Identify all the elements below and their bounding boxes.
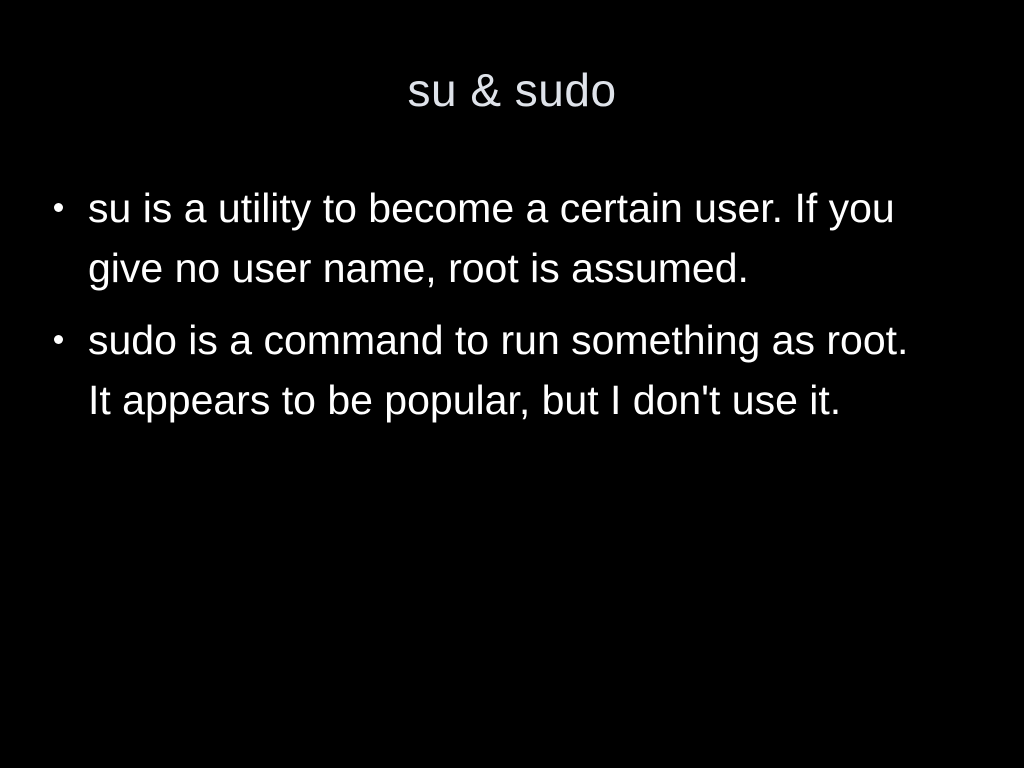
list-item-text: su is a utility to become a certain user…	[88, 178, 928, 298]
page-title: su & sudo	[0, 62, 1024, 118]
presentation-slide: su & sudo su is a utility to become a ce…	[0, 0, 1024, 768]
bullet-dot-icon	[54, 203, 63, 212]
slide-body-content: su is a utility to become a certain user…	[48, 178, 928, 430]
list-item-text: sudo is a command to run something as ro…	[88, 310, 928, 430]
bullet-dot-icon	[54, 335, 63, 344]
list-item: sudo is a command to run something as ro…	[48, 310, 928, 430]
list-item: su is a utility to become a certain user…	[48, 178, 928, 298]
